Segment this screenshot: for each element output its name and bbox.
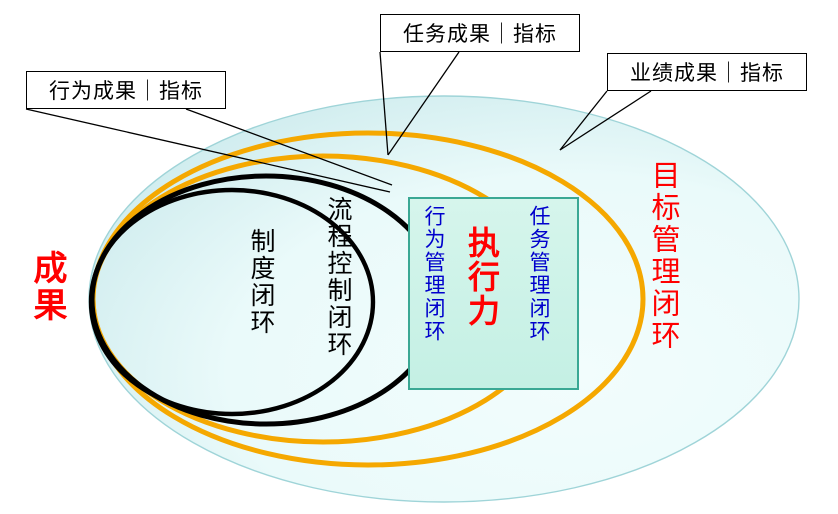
label-task-management-loop: 任务管理闭环: [528, 205, 549, 343]
label-execution-power: 执行力: [466, 226, 498, 328]
callout-task-outcome[interactable]: 任务成果｜指标: [380, 14, 580, 52]
callout-behavior-outcome[interactable]: 行为成果｜指标: [26, 71, 226, 109]
label-institution-loop: 制度闭环: [248, 228, 273, 336]
label-behavior-management-loop: 行为管理闭环: [423, 205, 444, 343]
label-process-control-loop: 流程控制闭环: [325, 196, 350, 358]
callout-performance-outcome[interactable]: 业绩成果｜指标: [607, 53, 807, 91]
label-goal-management-loop: 目标管理闭环: [648, 160, 677, 352]
diagram-canvas: 行为成果｜指标 任务成果｜指标 业绩成果｜指标 成果 制度闭环 流程控制闭环 行…: [0, 0, 838, 514]
label-outcome: 成果: [30, 250, 64, 324]
